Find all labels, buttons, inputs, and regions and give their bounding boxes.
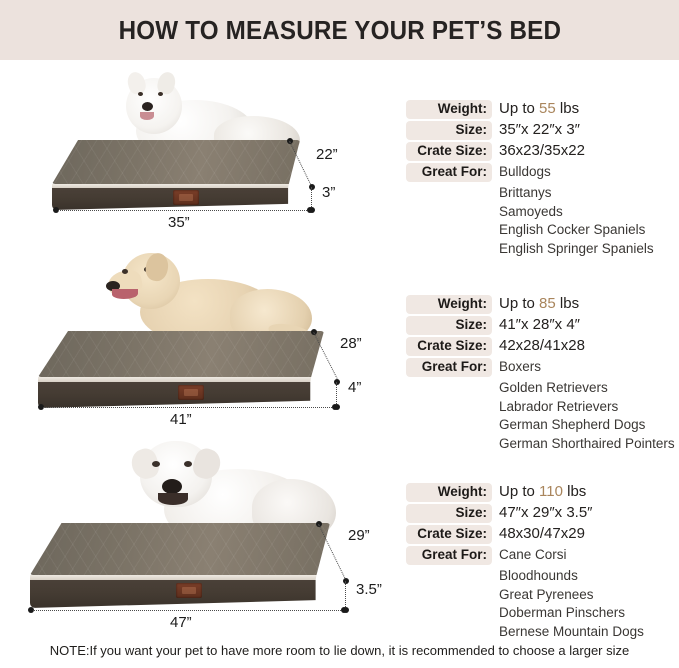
spec-label-crate-size: Crate Size:: [406, 525, 492, 544]
bed-slab-large: [30, 523, 330, 597]
dim-line-length: [43, 407, 336, 408]
spec-label-crate-size: Crate Size:: [406, 337, 492, 356]
bed-piping-trim: [30, 575, 330, 580]
weight-prefix: Up to: [499, 295, 535, 312]
breed-item: Brittanys: [492, 184, 679, 203]
breed-item: English Cocker Spaniels: [492, 221, 679, 240]
spec-panel-medium: Weight: Up to 85 lbs Size: 41″x 28″x 4″ …: [406, 295, 679, 453]
spec-label-weight: Weight:: [406, 483, 492, 502]
spec-label-great-for: Great For:: [406, 163, 492, 182]
header-banner: HOW TO MEASURE YOUR PET’S BED: [0, 0, 679, 60]
dim-dot-width-bottom: [334, 379, 340, 385]
dim-label-length: 41”: [170, 411, 192, 428]
weight-number: 55: [539, 100, 556, 117]
bed-top-surface: [52, 140, 300, 184]
spec-row-size: Size: 35″x 22″x 3″: [406, 121, 679, 140]
dim-label-length: 35”: [168, 214, 190, 231]
bed-top-surface: [38, 331, 324, 377]
bed-illustration-small: 22” 3” 35”: [0, 62, 400, 247]
spec-row-great-for: Great For: Cane Corsi: [406, 546, 679, 565]
breed-item: Labrador Retrievers: [492, 398, 679, 417]
spec-row-crate-size: Crate Size: 42x28/41x28: [406, 337, 679, 356]
spec-row-size: Size: 41″x 28″x 4″: [406, 316, 679, 335]
dim-label-height: 4”: [348, 379, 361, 396]
spec-label-great-for: Great For:: [406, 358, 492, 377]
breed-item: German Shepherd Dogs: [492, 416, 679, 435]
spec-value-weight: Up to 55 lbs: [492, 100, 679, 118]
spec-value-crate-size: 42x28/41x28: [492, 337, 679, 355]
bed-piping-trim: [52, 184, 300, 188]
brand-logo-patch: [176, 583, 202, 598]
spec-value-crate-size: 36x23/35x22: [492, 142, 679, 160]
spec-row-weight: Weight: Up to 110 lbs: [406, 483, 679, 502]
bed-slab-small: [52, 140, 300, 200]
spec-label-weight: Weight:: [406, 100, 492, 119]
breed-item: Bulldogs: [492, 163, 679, 182]
spec-value-size: 47″x 29″x 3.5″: [492, 504, 679, 522]
spec-label-size: Size:: [406, 121, 492, 140]
spec-panel-large: Weight: Up to 110 lbs Size: 47″x 29″x 3.…: [406, 483, 679, 641]
breed-item: Doberman Pinschers: [492, 604, 679, 623]
dim-line-height: [345, 581, 346, 609]
dim-label-height: 3.5”: [356, 581, 382, 598]
dim-line-length: [33, 610, 345, 611]
spec-label-crate-size: Crate Size:: [406, 142, 492, 161]
bed-illustration-medium: 28” 4” 41”: [0, 247, 400, 435]
bed-piping-trim: [38, 377, 324, 382]
dim-dot-width-bottom: [309, 184, 315, 190]
footer-note: NOTE:If you want your pet to have more r…: [0, 643, 679, 658]
bed-top-surface: [30, 523, 330, 575]
brand-logo-patch: [178, 385, 204, 400]
dim-label-width: 22”: [316, 146, 338, 163]
breed-item: Samoyeds: [492, 203, 679, 222]
breed-item: Great Pyrenees: [492, 586, 679, 605]
breed-item: Boxers: [492, 358, 679, 377]
dim-label-width: 28”: [340, 335, 362, 352]
dim-line-height: [336, 382, 337, 406]
spec-label-great-for: Great For:: [406, 546, 492, 565]
spec-value-weight: Up to 110 lbs: [492, 483, 679, 501]
spec-panel-small: Weight: Up to 55 lbs Size: 35″x 22″x 3″ …: [406, 100, 679, 258]
spec-value-size: 35″x 22″x 3″: [492, 121, 679, 139]
bed-slab-medium: [38, 331, 324, 397]
weight-number: 85: [539, 295, 556, 312]
breed-item: Golden Retrievers: [492, 379, 679, 398]
spec-label-weight: Weight:: [406, 295, 492, 314]
spec-value-size: 41″x 28″x 4″: [492, 316, 679, 334]
spec-row-great-for: Great For: Boxers: [406, 358, 679, 377]
weight-suffix: lbs: [567, 483, 586, 500]
spec-value-crate-size: 48x30/47x29: [492, 525, 679, 543]
spec-row-weight: Weight: Up to 85 lbs: [406, 295, 679, 314]
dim-dot-width-bottom: [343, 578, 349, 584]
weight-prefix: Up to: [499, 100, 535, 117]
page-title: HOW TO MEASURE YOUR PET’S BED: [118, 15, 560, 46]
dim-label-width: 29”: [348, 527, 370, 544]
weight-suffix: lbs: [560, 295, 579, 312]
breed-item: Cane Corsi: [492, 546, 679, 565]
dim-dot-length-right: [307, 207, 313, 213]
spec-value-weight: Up to 85 lbs: [492, 295, 679, 313]
dim-dot-length-right: [341, 607, 347, 613]
bed-illustration-large: 29” 3.5” 47”: [0, 435, 400, 635]
brand-logo-patch: [173, 190, 199, 205]
dim-label-length: 47”: [170, 614, 192, 631]
spec-row-weight: Weight: Up to 55 lbs: [406, 100, 679, 119]
product-size-section-large: 29” 3.5” 47” Weight: Up to 110 lbs Size:…: [0, 435, 679, 635]
spec-label-size: Size:: [406, 504, 492, 523]
dim-line-length: [58, 210, 311, 211]
spec-row-crate-size: Crate Size: 36x23/35x22: [406, 142, 679, 161]
spec-row-crate-size: Crate Size: 48x30/47x29: [406, 525, 679, 544]
breed-item: Bernese Mountain Dogs: [492, 623, 679, 642]
product-size-section-small: 22” 3” 35” Weight: Up to 55 lbs Size: 35…: [0, 62, 679, 247]
spec-row-size: Size: 47″x 29″x 3.5″: [406, 504, 679, 523]
spec-label-size: Size:: [406, 316, 492, 335]
weight-prefix: Up to: [499, 483, 535, 500]
product-size-section-medium: 28” 4” 41” Weight: Up to 85 lbs Size: 41…: [0, 247, 679, 435]
dim-line-height: [311, 187, 312, 209]
dim-dot-length-right: [332, 404, 338, 410]
spec-row-great-for: Great For: Bulldogs: [406, 163, 679, 182]
breed-item: Bloodhounds: [492, 567, 679, 586]
weight-number: 110: [539, 483, 563, 500]
weight-suffix: lbs: [560, 100, 579, 117]
dim-label-height: 3”: [322, 184, 335, 201]
